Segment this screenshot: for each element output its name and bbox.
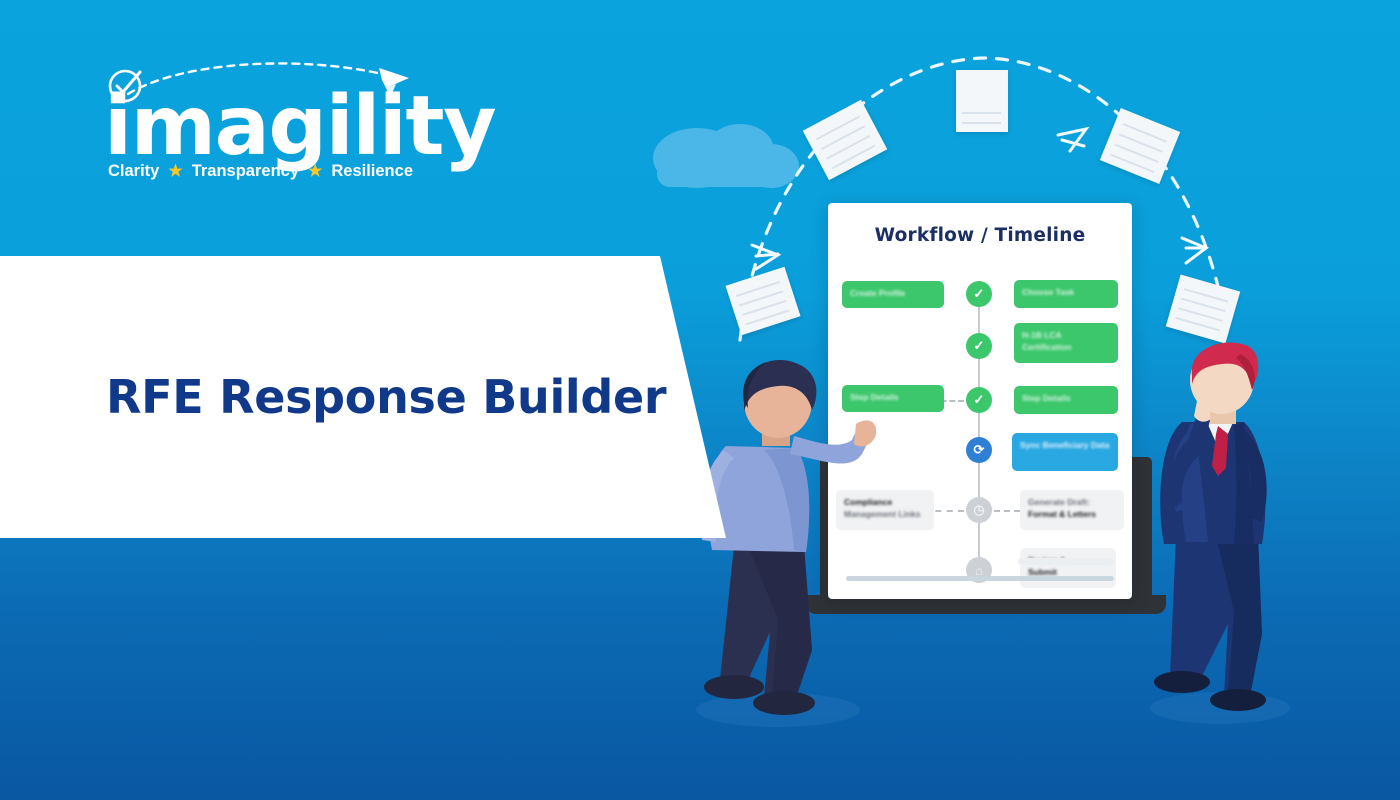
hero-banner-illustration: Workflow / Timeline ✓ ✓ ✓ ⟳ ◷ ⌂ Create P… — [0, 0, 1400, 800]
person-touching-screen — [686, 350, 876, 730]
timeline-node-check-icon[interactable]: ✓ — [966, 333, 992, 359]
document-paper — [956, 70, 1008, 132]
tagline-word-transparency: Transparency — [192, 162, 299, 181]
workflow-card-sync-data[interactable]: Sync Beneficiary Data — [1012, 433, 1118, 471]
star-icon: ★ — [168, 164, 182, 180]
timeline-node-check-icon[interactable]: ✓ — [966, 387, 992, 413]
workflow-card-create-profile[interactable]: Create Profile — [842, 281, 944, 308]
star-icon: ★ — [308, 164, 322, 180]
workflow-card-review-submit[interactable]: Review & Submit — [1020, 548, 1116, 588]
brand-logo[interactable]: imagility Clarity ★ Transparency ★ Resil… — [104, 58, 434, 188]
screen-scrollbar[interactable] — [846, 576, 1114, 581]
timeline-node-sync-icon[interactable]: ⟳ — [966, 437, 992, 463]
workflow-timeline-heading: Workflow / Timeline — [828, 225, 1132, 246]
screen-progress-bar — [1018, 558, 1114, 565]
timeline-rail — [978, 283, 980, 573]
tagline-word-clarity: Clarity — [108, 162, 159, 181]
brand-name: imagility — [104, 86, 495, 168]
timeline-node-check-icon[interactable]: ✓ — [966, 281, 992, 307]
timeline-connector — [994, 510, 1020, 512]
brand-tagline: Clarity ★ Transparency ★ Resilience — [108, 162, 413, 181]
workflow-card-choose-task[interactable]: Choose Task — [1014, 280, 1118, 308]
workflow-card-formats-letters[interactable]: Generate Draft: Format & Letters — [1020, 490, 1124, 530]
person-thinking — [1138, 336, 1298, 726]
page-title: RFE Response Builder — [106, 370, 666, 424]
workflow-card-step-details-right[interactable]: Step Details — [1014, 386, 1118, 414]
workflow-card-h1b-certification[interactable]: H-1B LCA Certification — [1014, 323, 1118, 363]
timeline-node-clock-icon[interactable]: ◷ — [966, 497, 992, 523]
tagline-word-resilience: Resilience — [331, 162, 413, 181]
